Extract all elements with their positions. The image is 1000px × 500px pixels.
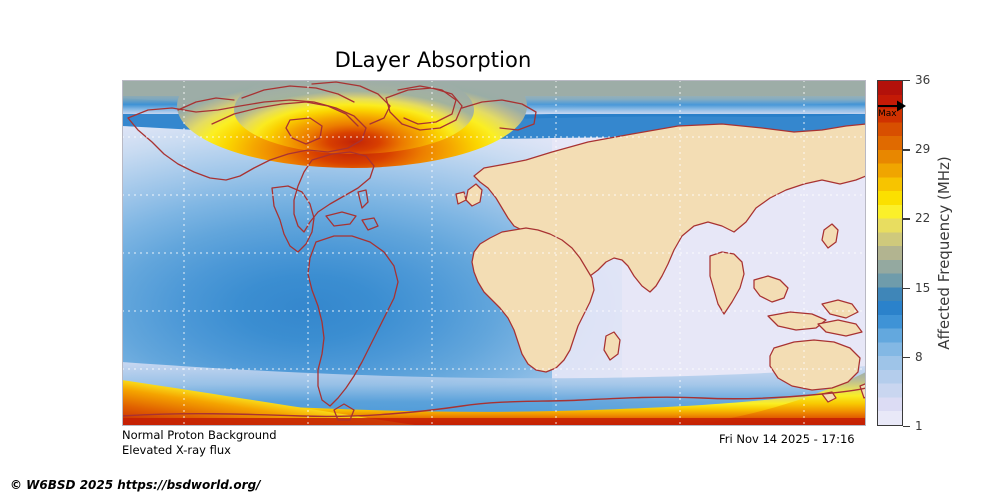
colorbar-tick-label: 8 <box>915 350 923 364</box>
colorbar-tick-label: 36 <box>915 73 930 87</box>
timestamp: Fri Nov 14 2025 - 17:16 <box>719 432 855 446</box>
colorbar-tick-label: 29 <box>915 142 930 156</box>
colorbar-tick-label: 15 <box>915 281 930 295</box>
caption-xray-flux: Elevated X-ray flux <box>122 443 277 458</box>
colorbar-tick-label: 1 <box>915 419 923 433</box>
colorbar-tick-label: 22 <box>915 211 930 225</box>
world-absorption-map[interactable] <box>122 80 866 426</box>
caption-proton-background: Normal Proton Background <box>122 428 277 443</box>
status-captions: Normal Proton Background Elevated X-ray … <box>122 428 277 458</box>
footer-credit: © W6BSD 2025 https://bsdworld.org/ <box>10 478 261 492</box>
page-title: DLayer Absorption <box>0 48 866 72</box>
dlayer-absorption-figure: DLayer Absorption <box>0 0 1000 500</box>
colorbar-gradient <box>878 81 902 425</box>
colorbar[interactable] <box>877 80 903 426</box>
colorbar-axis-label: Affected Frequency (MHz) <box>932 80 956 426</box>
map-gridlines <box>122 80 866 426</box>
